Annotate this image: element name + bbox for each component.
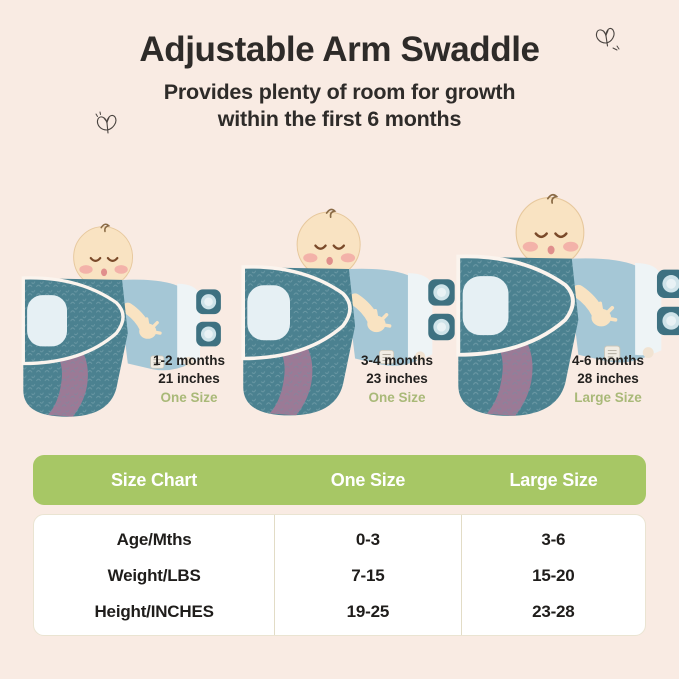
inner-pocket: [247, 286, 290, 341]
column-labels: Age/Mths Weight/LBS Height/INCHES: [34, 515, 274, 635]
baby-head: [297, 210, 360, 278]
inner-pocket: [463, 276, 509, 335]
caption-length: 28 inches: [545, 370, 671, 388]
caption-age: 3-4 months: [334, 352, 460, 370]
column-one-size: 0-3 7-15 19-25: [274, 515, 460, 635]
figure-captions: 1-2 months 21 inches One Size 3-4 months…: [0, 352, 679, 414]
cell-one-size-height: 19-25: [275, 593, 460, 629]
size-chart-body: Age/Mths Weight/LBS Height/INCHES 0-3 7-…: [33, 514, 646, 636]
baby-head: [516, 194, 584, 267]
caption-size: One Size: [334, 389, 460, 407]
row-label-height: Height/INCHES: [34, 593, 274, 629]
size-chart-table: Size Chart One Size Large Size Age/Mths …: [33, 455, 646, 636]
page-title: Adjustable Arm Swaddle: [0, 32, 679, 69]
caption-length: 23 inches: [334, 370, 460, 388]
header-cell-size-chart: Size Chart: [33, 470, 275, 491]
inner-pocket: [27, 295, 67, 346]
row-label-age: Age/Mths: [34, 521, 274, 557]
page-subtitle: Provides plenty of room for growth withi…: [0, 79, 679, 134]
caption-small: 1-2 months 21 inches One Size: [126, 352, 252, 406]
caption-length: 21 inches: [126, 370, 252, 388]
caption-age: 4-6 months: [545, 352, 671, 370]
caption-size: Large Size: [545, 389, 671, 407]
caption-size: One Size: [126, 389, 252, 407]
baby-head: [74, 224, 133, 287]
cell-one-size-weight: 7-15: [275, 557, 460, 593]
subtitle-line-1: Provides plenty of room for growth: [0, 79, 679, 107]
header-cell-large-size: Large Size: [461, 470, 646, 491]
cell-large-size-height: 23-28: [462, 593, 645, 629]
cell-one-size-age: 0-3: [275, 521, 460, 557]
infographic-root: Adjustable Arm Swaddle Provides plenty o…: [0, 0, 679, 679]
header: Adjustable Arm Swaddle Provides plenty o…: [0, 32, 679, 134]
caption-age: 1-2 months: [126, 352, 252, 370]
cell-large-size-age: 3-6: [462, 521, 645, 557]
row-label-weight: Weight/LBS: [34, 557, 274, 593]
size-chart-header-row: Size Chart One Size Large Size: [33, 455, 646, 505]
cell-large-size-weight: 15-20: [462, 557, 645, 593]
caption-medium: 3-4 months 23 inches One Size: [334, 352, 460, 406]
subtitle-line-2: within the first 6 months: [0, 106, 679, 134]
header-cell-one-size: One Size: [275, 470, 461, 491]
caption-large: 4-6 months 28 inches Large Size: [545, 352, 671, 406]
column-large-size: 3-6 15-20 23-28: [461, 515, 645, 635]
